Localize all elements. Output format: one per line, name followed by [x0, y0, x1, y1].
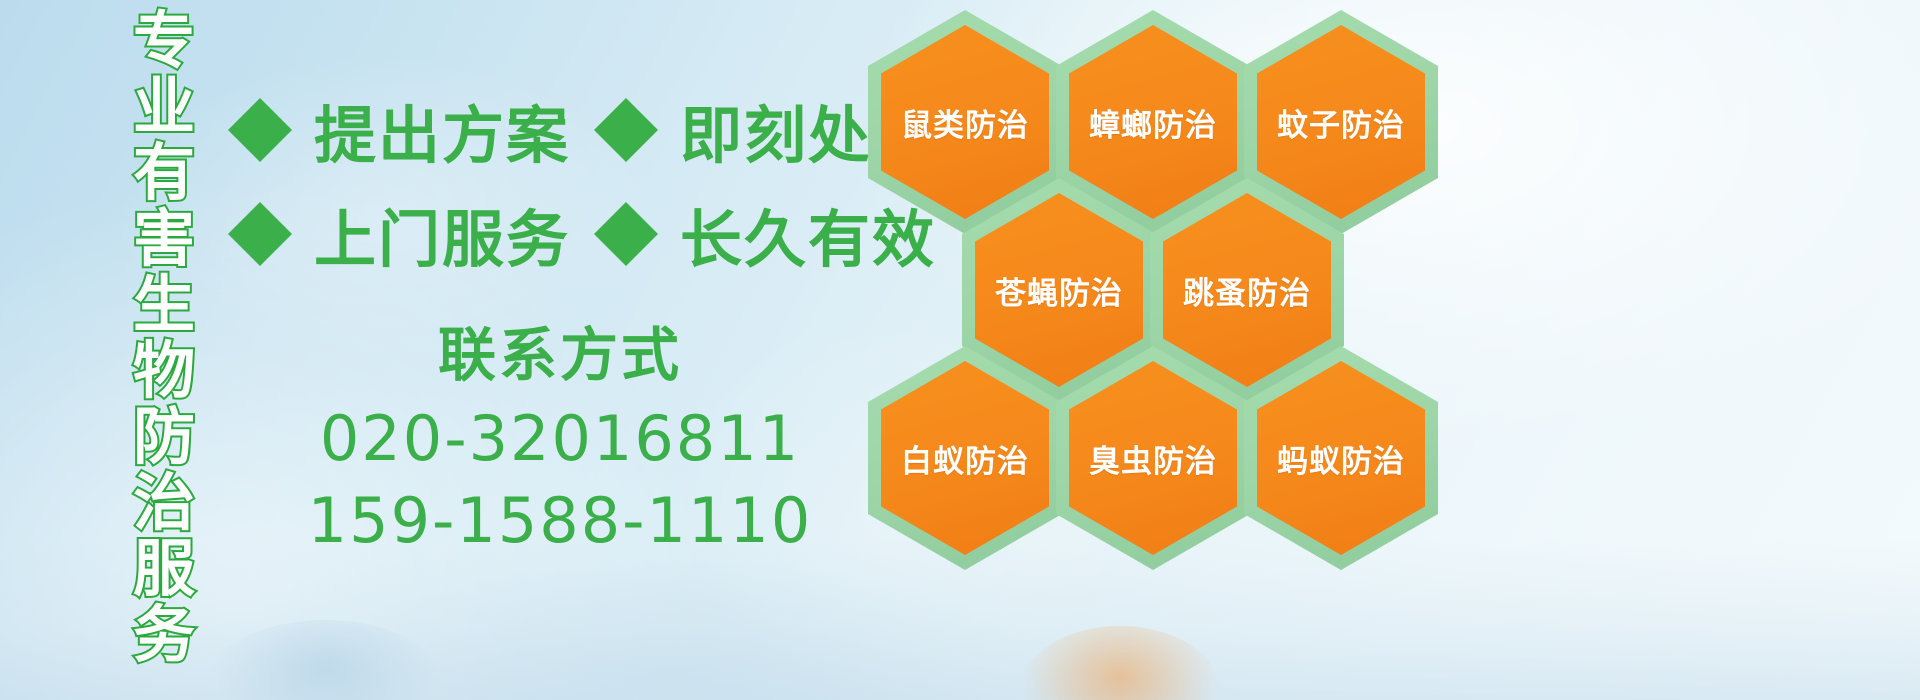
vertical-headline-char: 业 [133, 74, 195, 140]
service-hexagon-label: 蚊子防治 [1277, 100, 1405, 145]
feature-label: 上门服务 [314, 189, 570, 279]
service-hexagon-label: 苍蝇防治 [995, 268, 1123, 313]
feature-list: 提出方案 即刻处理 上门服务 长久有效 [228, 78, 868, 286]
vertical-headline-char: 物 [133, 338, 195, 404]
vertical-headline-char: 害 [133, 206, 195, 272]
background-blob-left [210, 620, 440, 700]
contact-title: 联系方式 [300, 312, 820, 398]
contact-phone-primary[interactable]: 020-32016811 [300, 398, 820, 480]
service-hexagon-label: 蟑螂防治 [1089, 100, 1217, 145]
service-hexagon-termite[interactable]: 白蚁防治 [868, 346, 1062, 570]
feature-row: 提出方案 即刻处理 [228, 78, 868, 182]
service-hexagon-label: 臭虫防治 [1089, 436, 1217, 481]
vertical-headline-char: 生 [133, 272, 195, 338]
diamond-icon [228, 170, 292, 234]
service-hexagon-ant[interactable]: 蚂蚁防治 [1244, 346, 1438, 570]
service-hexagon-label: 鼠类防治 [901, 100, 1029, 145]
diamond-icon [228, 66, 292, 130]
pest-control-banner: 专 业 有 害 生 物 防 治 服 务 提出方案 即刻处理 上门服务 长久有效 … [0, 0, 1920, 700]
vertical-headline-char: 有 [133, 140, 195, 206]
vertical-headline-char: 专 [133, 8, 195, 74]
vertical-headline: 专 业 有 害 生 物 防 治 服 务 [112, 8, 216, 688]
diamond-icon [594, 66, 658, 130]
service-hexagon-label: 跳蚤防治 [1183, 268, 1311, 313]
service-hexagon-label: 白蚁防治 [901, 436, 1029, 481]
vertical-headline-char: 服 [133, 536, 195, 602]
feature-label: 提出方案 [314, 85, 570, 175]
feature-row: 上门服务 长久有效 [228, 182, 868, 286]
vertical-headline-char: 治 [133, 470, 195, 536]
background-blob-right [1020, 626, 1220, 700]
service-hexagon-bedbug[interactable]: 臭虫防治 [1056, 346, 1250, 570]
vertical-headline-char: 务 [133, 602, 195, 668]
service-hexagon-grid: 鼠类防治 蟑螂防治 蚊子防治 苍蝇防治 跳蚤防治 白蚁防治 [862, 0, 1462, 560]
service-hexagon-label: 蚂蚁防治 [1277, 436, 1405, 481]
contact-block: 联系方式 020-32016811 159-1588-1110 [300, 312, 820, 562]
diamond-icon [594, 170, 658, 234]
contact-phone-secondary[interactable]: 159-1588-1110 [300, 480, 820, 562]
vertical-headline-char: 防 [133, 404, 195, 470]
